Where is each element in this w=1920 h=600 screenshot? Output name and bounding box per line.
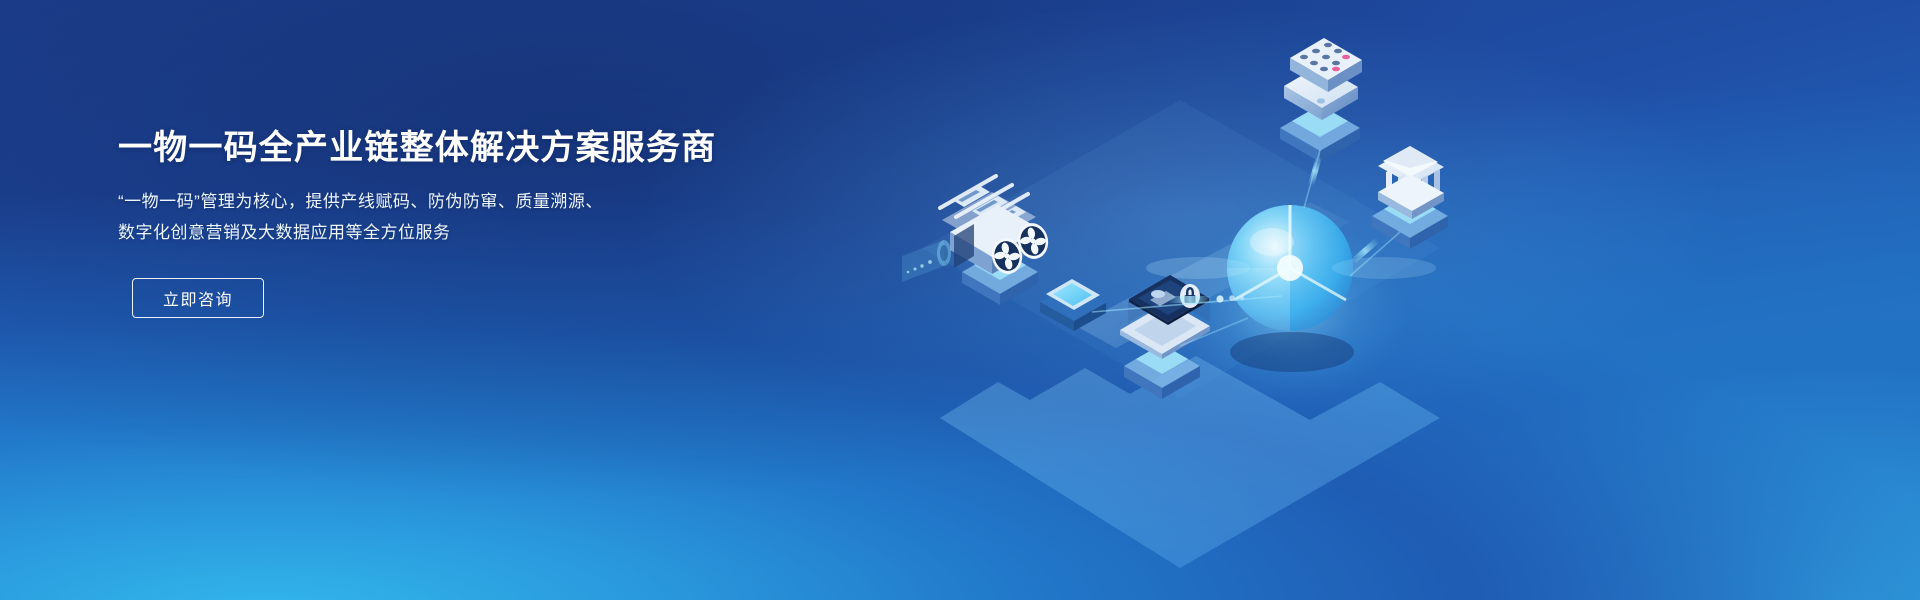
hero-copy-block: 一物一码全产业链整体解决方案服务商 “一物一码”管理为核心，提供产线赋码、防伪防… xyxy=(118,126,758,318)
subtitle-line-1: “一物一码”管理为核心，提供产线赋码、防伪防窜、质量溯源、 xyxy=(118,186,758,217)
hero-banner: 一物一码全产业链整体解决方案服务商 “一物一码”管理为核心，提供产线赋码、防伪防… xyxy=(0,0,1920,600)
hero-subtitle: “一物一码”管理为核心，提供产线赋码、防伪防窜、质量溯源、 数字化创意营销及大数… xyxy=(118,186,758,248)
subtitle-line-2: 数字化创意营销及大数据应用等全方位服务 xyxy=(118,217,758,248)
page-title: 一物一码全产业链整体解决方案服务商 xyxy=(118,126,758,170)
consult-now-button[interactable]: 立即咨询 xyxy=(132,278,264,318)
